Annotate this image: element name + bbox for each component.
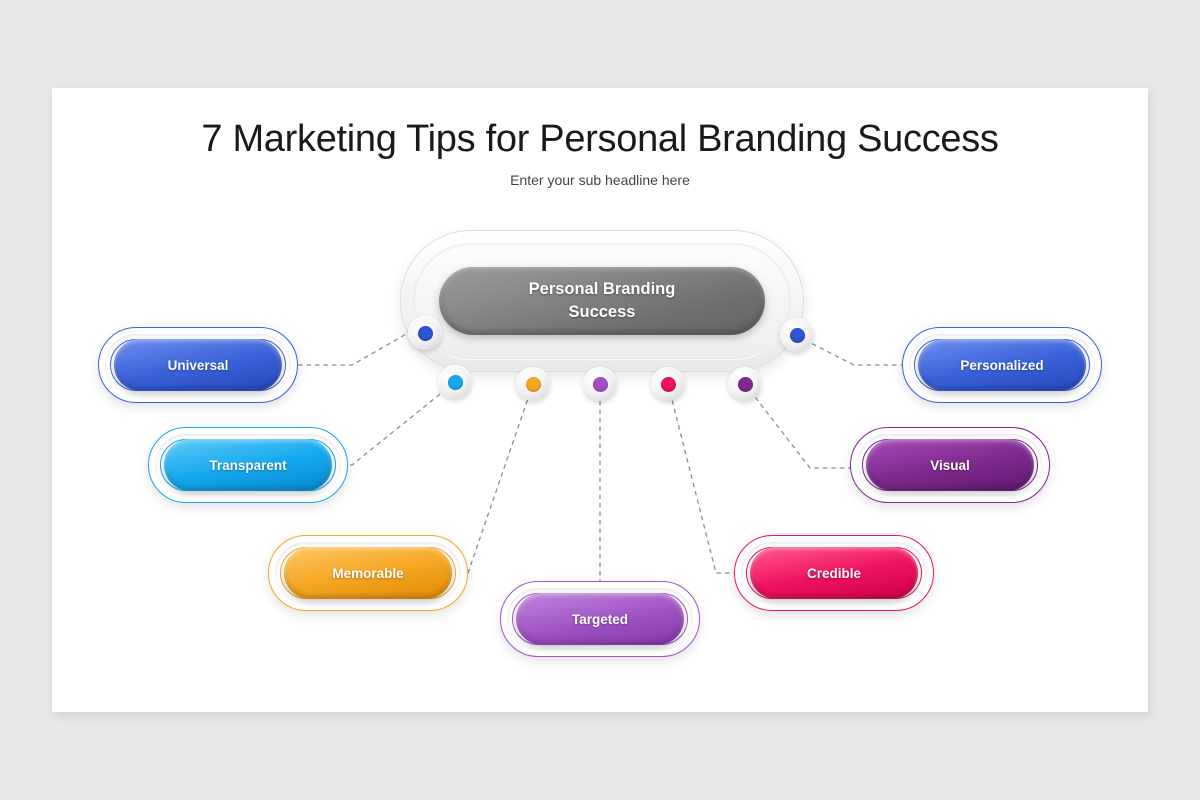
wire-universal	[298, 333, 408, 365]
dot-core	[790, 328, 805, 343]
infographic-stage: Personal Branding Success	[52, 88, 1148, 712]
node-label: Transparent	[209, 458, 286, 473]
hub-label: Personal Branding Success	[529, 278, 676, 324]
central-hub[interactable]: Personal Branding Success	[400, 230, 804, 372]
node-core: Universal	[114, 339, 282, 391]
node-visual[interactable]: Visual	[850, 427, 1050, 503]
node-inner-frame: Targeted	[507, 588, 693, 650]
node-core: Targeted	[516, 593, 684, 645]
node-core: Personalized	[918, 339, 1086, 391]
node-label: Visual	[930, 458, 970, 473]
node-inner-frame: Visual	[857, 434, 1043, 496]
node-inner-frame: Memorable	[275, 542, 461, 604]
dot-core	[593, 377, 608, 392]
dot-core	[661, 377, 676, 392]
slide-canvas: 7 Marketing Tips for Personal Branding S…	[52, 88, 1148, 712]
node-credible[interactable]: Credible	[734, 535, 934, 611]
node-inner-frame: Transparent	[155, 434, 341, 496]
node-label: Memorable	[332, 566, 403, 581]
hub-frame: Personal Branding Success	[413, 243, 791, 359]
hub-core: Personal Branding Success	[439, 267, 765, 335]
node-transparent[interactable]: Transparent	[148, 427, 348, 503]
connector-dot-universal[interactable]	[408, 316, 442, 350]
node-universal[interactable]: Universal	[98, 327, 298, 403]
node-personalized[interactable]: Personalized	[902, 327, 1102, 403]
connector-dot-visual[interactable]	[728, 367, 762, 401]
connector-dot-memorable[interactable]	[516, 367, 550, 401]
node-label: Personalized	[960, 358, 1043, 373]
connector-dot-targeted[interactable]	[583, 367, 617, 401]
connector-dot-credible[interactable]	[651, 367, 685, 401]
dot-core	[738, 377, 753, 392]
node-memorable[interactable]: Memorable	[268, 535, 468, 611]
node-label: Universal	[168, 358, 229, 373]
connector-dot-transparent[interactable]	[438, 365, 472, 399]
node-inner-frame: Universal	[105, 334, 291, 396]
dot-core	[448, 375, 463, 390]
node-inner-frame: Credible	[741, 542, 927, 604]
node-label: Targeted	[572, 612, 628, 627]
node-label: Credible	[807, 566, 861, 581]
node-core: Credible	[750, 547, 918, 599]
node-core: Transparent	[164, 439, 332, 491]
node-core: Visual	[866, 439, 1034, 491]
node-targeted[interactable]: Targeted	[500, 581, 700, 657]
connector-dot-personalized[interactable]	[780, 318, 814, 352]
node-inner-frame: Personalized	[909, 334, 1095, 396]
node-core: Memorable	[284, 547, 452, 599]
dot-core	[418, 326, 433, 341]
dot-core	[526, 377, 541, 392]
